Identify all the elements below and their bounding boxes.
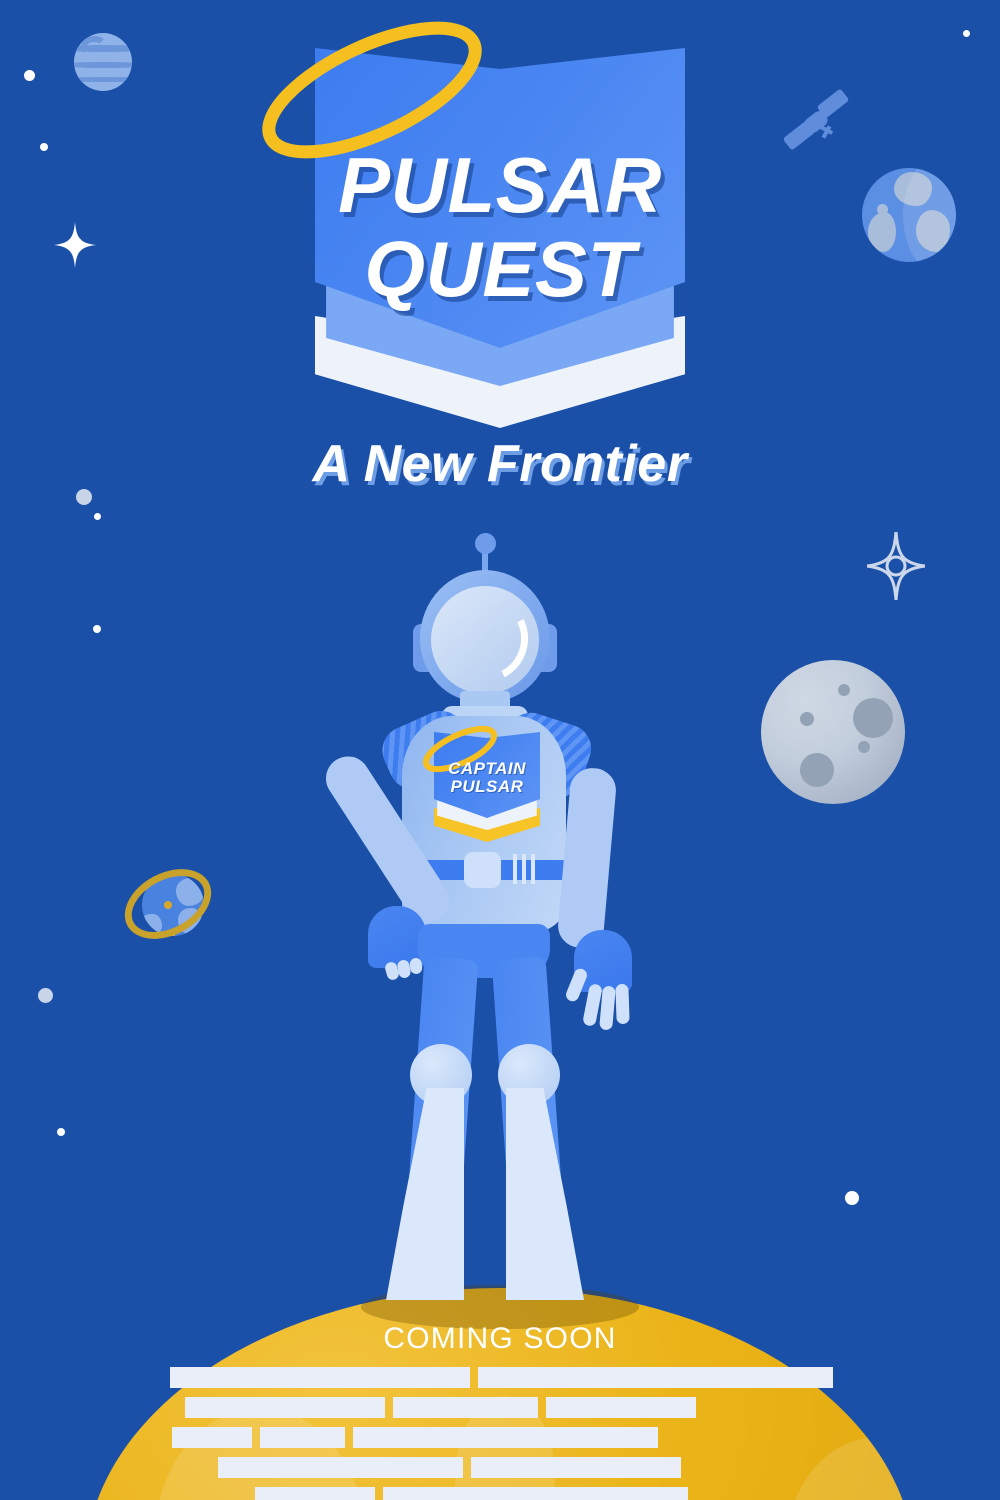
striped-planet (74, 33, 132, 91)
placeholder-bar (170, 1367, 470, 1388)
star-dot (93, 625, 101, 633)
placeholder-bar (255, 1487, 375, 1500)
ringed-planet (120, 858, 220, 954)
placeholder-bar (172, 1427, 252, 1448)
placeholder-bar (218, 1457, 463, 1478)
star-dot (38, 988, 53, 1003)
placeholder-bar (383, 1487, 688, 1500)
boot-stripe-right (510, 1229, 548, 1233)
star-dot (845, 1191, 859, 1205)
boot-stripe-left (417, 1220, 455, 1224)
boot-left (386, 1088, 464, 1300)
logo-title-line2: QUEST (315, 230, 685, 310)
placeholder-bar (353, 1427, 658, 1448)
boot-right (506, 1088, 584, 1300)
earth-planet (862, 168, 956, 262)
belt-buckle (464, 852, 501, 888)
chest-badge: CAPTAIN PULSAR (434, 732, 540, 842)
star-dot (94, 513, 101, 520)
placeholder-bar (185, 1397, 385, 1418)
moon-planet (761, 660, 905, 804)
boot-stripe-right (510, 1220, 548, 1224)
star-dot (57, 1128, 65, 1136)
placeholder-bar (478, 1367, 833, 1388)
captain-pulsar-astronaut: CAPTAIN PULSAR (318, 528, 648, 1318)
placeholder-bar-row (185, 1397, 1000, 1418)
boot-stripe-left (417, 1238, 455, 1242)
poster-canvas: PULSAR QUEST A New Frontier (0, 0, 1000, 1500)
boot-stripe-left (417, 1229, 455, 1233)
placeholder-bar-row (255, 1487, 1000, 1500)
placeholder-bar-row (218, 1457, 1000, 1478)
placeholder-bar (546, 1397, 696, 1418)
logo-title-line1: PULSAR (315, 146, 685, 226)
glove-right-finger (599, 986, 616, 1031)
placeholder-bar-row (170, 1367, 1000, 1388)
boot-stripe-right (510, 1238, 548, 1242)
placeholder-bars (0, 1367, 1000, 1500)
belt-line (522, 854, 526, 884)
placeholder-bar (393, 1397, 538, 1418)
star-dot (963, 30, 970, 37)
chest-badge-line2: PULSAR (434, 778, 540, 795)
sparkle-star-small (54, 222, 96, 268)
satellite-icon (780, 90, 850, 160)
placeholder-bar-row (172, 1427, 1000, 1448)
poster-subtitle: A New Frontier (0, 434, 1000, 494)
coming-soon-label: COMING SOON (0, 1322, 1000, 1356)
belt-line (531, 854, 535, 884)
helmet-antenna-ball (475, 533, 496, 554)
star-dot (24, 70, 35, 81)
sparkle-star-large (867, 532, 925, 600)
placeholder-bar (471, 1457, 681, 1478)
glove-right-finger (615, 984, 629, 1024)
belt-line (513, 854, 517, 884)
placeholder-bar (260, 1427, 345, 1448)
star-dot (40, 143, 48, 151)
logo-badge: PULSAR QUEST (315, 48, 685, 420)
chest-badge-line1: CAPTAIN (434, 760, 540, 777)
